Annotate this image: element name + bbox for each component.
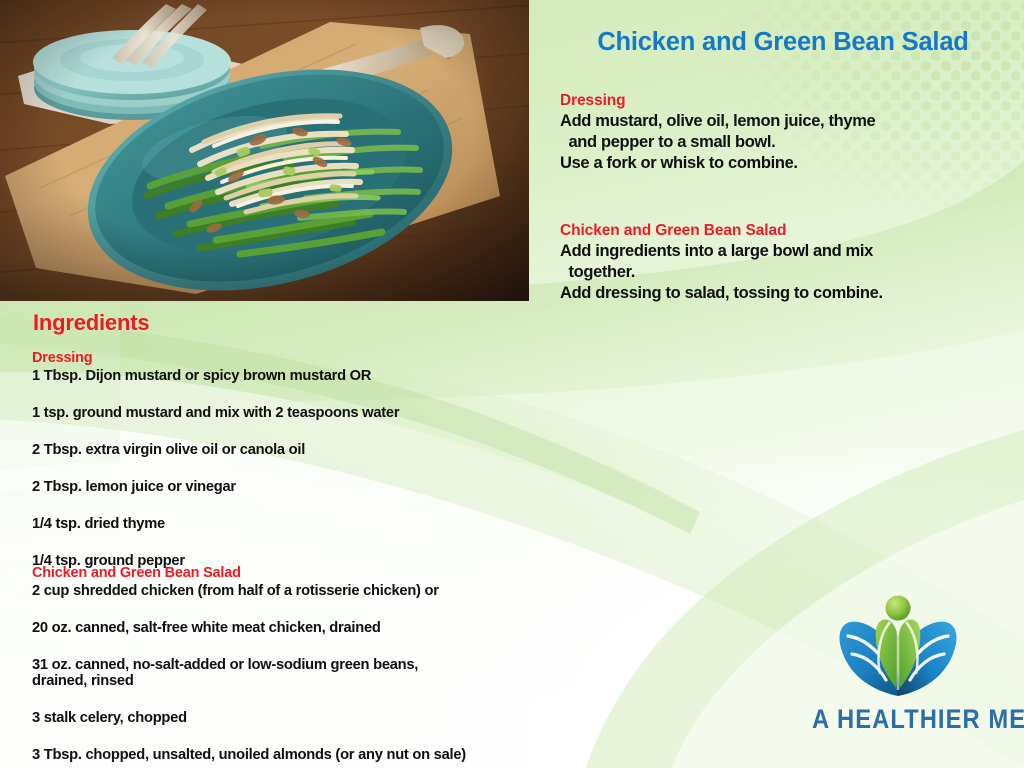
brand-logo: A HEALTHIER ME (800, 592, 1000, 752)
page-title: Chicken and Green Bean Salad (548, 28, 1018, 57)
ingredient-item: 3 Tbsp. chopped, unsalted, unoiled almon… (32, 747, 632, 763)
healthier-me-leaf-figure-logo-icon (818, 592, 978, 712)
directions-dressing-line-2: Use a fork or whisk to combine. (560, 153, 1020, 174)
ingredient-item: 1 tsp. ground mustard and mix with 2 tea… (32, 405, 632, 421)
ingredient-item: 20 oz. canned, salt-free white meat chic… (32, 620, 632, 636)
ingredient-item: 31 oz. canned, no-salt-added or low-sodi… (32, 657, 632, 690)
ingredient-item: 1/4 tsp. dried thyme (32, 516, 632, 532)
directions-dressing: Dressing Add mustard, olive oil, lemon j… (560, 92, 1020, 174)
recipe-photo (0, 0, 529, 301)
brand-logo-text: A HEALTHIER ME (812, 704, 988, 735)
directions-dressing-line-1: Add mustard, olive oil, lemon juice, thy… (560, 111, 1020, 153)
directions-salad-heading: Chicken and Green Bean Salad (560, 222, 1020, 240)
ingredient-group-heading: Chicken and Green Bean Salad (32, 565, 632, 581)
ingredient-group-salad: Chicken and Green Bean Salad 2 cup shred… (32, 565, 632, 764)
ingredient-item: 2 Tbsp. lemon juice or vinegar (32, 479, 632, 495)
ingredient-item: 3 stalk celery, chopped (32, 710, 632, 726)
directions-panel: Chicken and Green Bean Salad Dressing Ad… (528, 0, 1024, 300)
ingredient-group-heading: Dressing (32, 350, 632, 366)
directions-dressing-heading: Dressing (560, 92, 1020, 110)
recipe-card: Chicken and Green Bean Salad Dressing Ad… (0, 0, 1024, 768)
directions-salad: Chicken and Green Bean Salad Add ingredi… (560, 222, 1020, 304)
directions-salad-line-2: Add dressing to salad, tossing to combin… (560, 283, 1020, 304)
ingredient-item: 2 cup shredded chicken (from half of a r… (32, 583, 632, 599)
ingredient-group-dressing: Dressing 1 Tbsp. Dijon mustard or spicy … (32, 350, 632, 569)
ingredient-item: 2 Tbsp. extra virgin olive oil or canola… (32, 442, 632, 458)
ingredient-item: 1 Tbsp. Dijon mustard or spicy brown mus… (32, 368, 632, 384)
directions-salad-line-1: Add ingredients into a large bowl and mi… (560, 241, 1020, 283)
ingredients-title: Ingredients (33, 310, 149, 336)
